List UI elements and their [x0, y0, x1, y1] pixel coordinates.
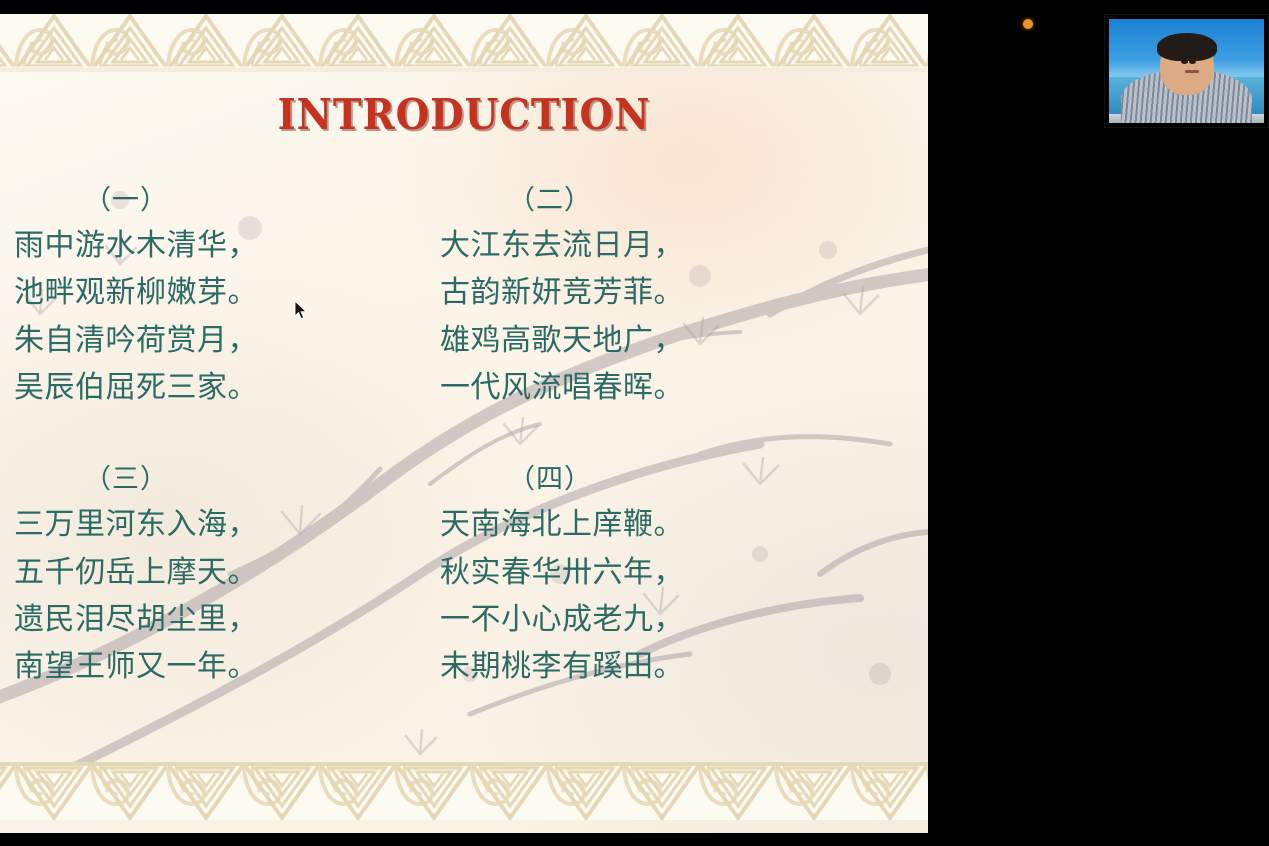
poem-line: 雨中游水木清华，: [0, 222, 440, 269]
slide-title: INTRODUCTION: [37, 90, 891, 139]
poem-line: 大江东去流日月，: [440, 222, 928, 269]
video-frame: [1109, 19, 1264, 123]
participant-hair: [1157, 33, 1217, 61]
poem-line: 一代风流唱春晖。: [440, 364, 928, 411]
poem-label: （一）: [0, 180, 440, 222]
poem-block-4: （四） 天南海北上庠鞭。 秋实春华卅六年， 一不小心成老九， 未期桃李有蹊田。: [440, 459, 928, 690]
screen-root: INTRODUCTION （一） 雨中游水木清华， 池畔观新柳嫩芽。 朱自清吟荷…: [0, 0, 1269, 846]
recording-indicator-dot[interactable]: [1023, 19, 1033, 29]
poem-block-2: （二） 大江东去流日月， 古韵新妍竞芳菲。 雄鸡高歌天地广， 一代风流唱春晖。: [440, 180, 928, 411]
poem-label: （四）: [440, 459, 928, 501]
presentation-slide[interactable]: INTRODUCTION （一） 雨中游水木清华， 池畔观新柳嫩芽。 朱自清吟荷…: [0, 14, 928, 833]
poem-line: 三万里河东入海，: [0, 501, 440, 548]
poem-label: （三）: [0, 459, 440, 501]
poem-line: 朱自清吟荷赏月，: [0, 317, 440, 364]
poem-block-3: （三） 三万里河东入海， 五千仞岳上摩天。 遗民泪尽胡尘里， 南望王师又一年。: [0, 459, 440, 690]
poem-line: 五千仞岳上摩天。: [0, 549, 440, 596]
decorative-border-bottom: [0, 762, 928, 820]
poem-line: 秋实春华卅六年，: [440, 549, 928, 596]
poem-line: 池畔观新柳嫩芽。: [0, 269, 440, 316]
poem-block-1: （一） 雨中游水木清华， 池畔观新柳嫩芽。 朱自清吟荷赏月， 吴辰伯屈死三家。: [0, 180, 440, 411]
arrow-cursor-icon: [294, 300, 308, 320]
poem-line: 吴辰伯屈死三家。: [0, 364, 440, 411]
poem-label: （二）: [440, 180, 928, 222]
poem-line: 天南海北上庠鞭。: [440, 501, 928, 548]
poem-line: 遗民泪尽胡尘里，: [0, 596, 440, 643]
participant-video-thumbnail[interactable]: [1104, 14, 1269, 128]
poem-line: 古韵新妍竞芳菲。: [440, 269, 928, 316]
poem-line: 未期桃李有蹊田。: [440, 643, 928, 690]
poem-grid: （一） 雨中游水木清华， 池畔观新柳嫩芽。 朱自清吟荷赏月， 吴辰伯屈死三家。 …: [0, 180, 928, 691]
poem-line: 南望王师又一年。: [0, 643, 440, 690]
poem-line: 一不小心成老九，: [440, 596, 928, 643]
mouth-icon: [1185, 70, 1199, 73]
poem-line: 雄鸡高歌天地广，: [440, 317, 928, 364]
decorative-border-top: [0, 14, 928, 72]
